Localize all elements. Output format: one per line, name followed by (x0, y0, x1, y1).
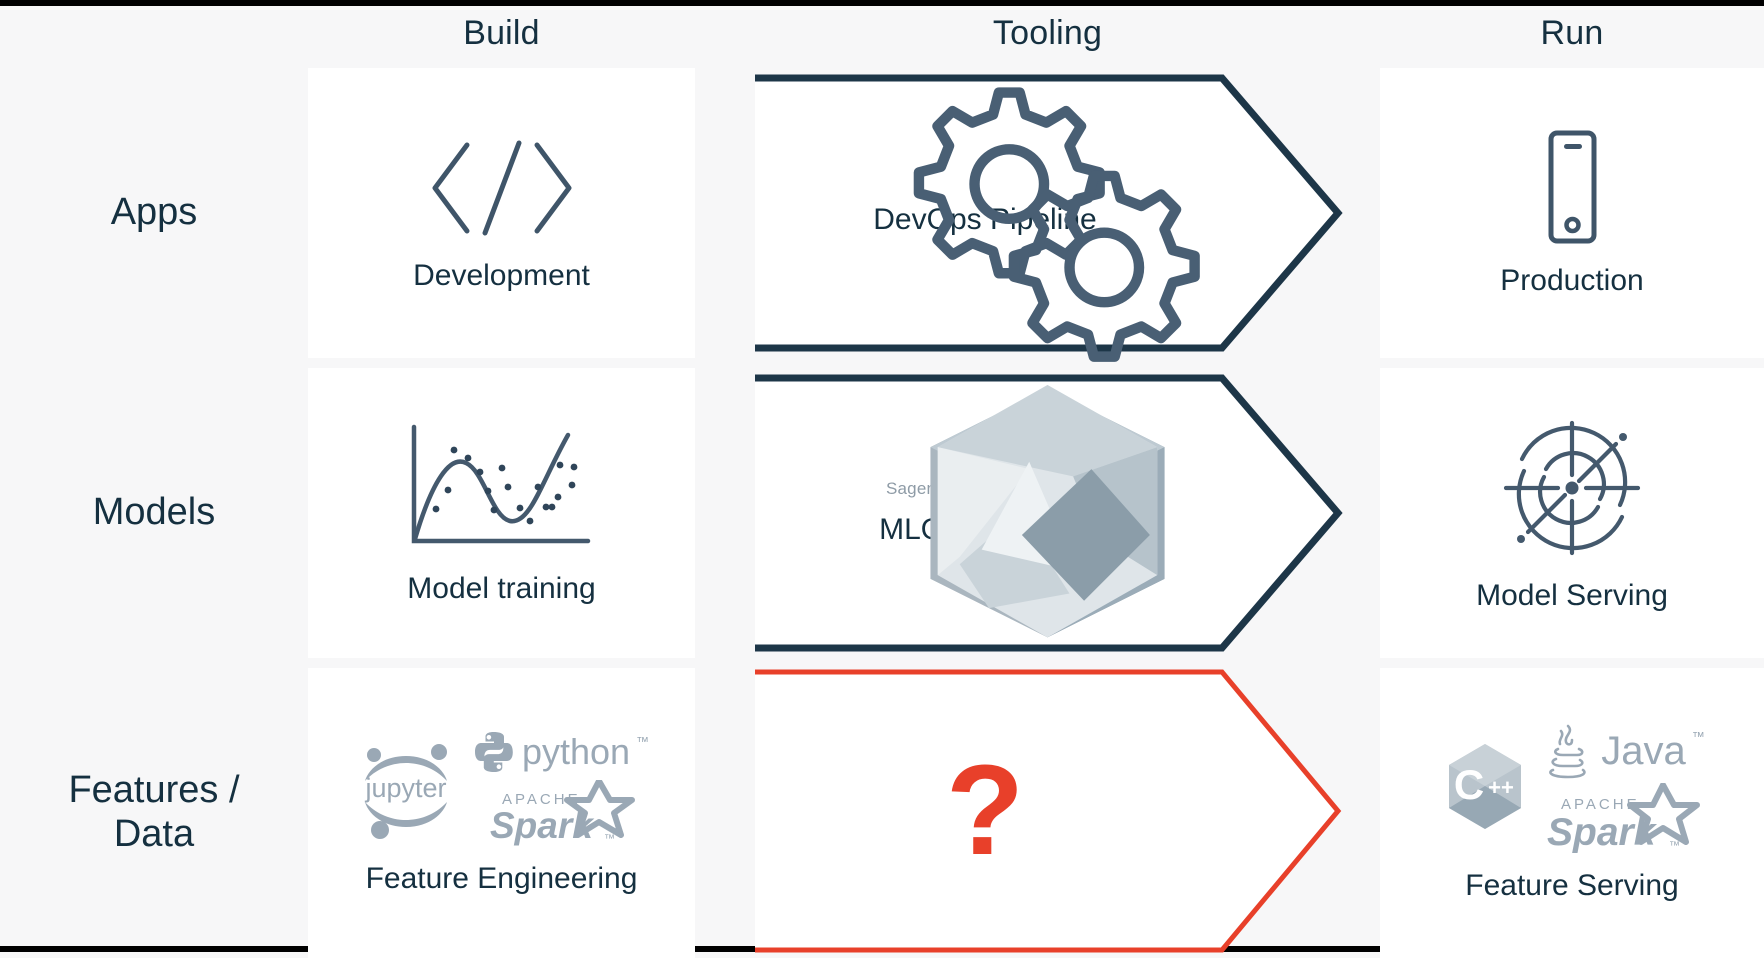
spark-wordmark: Spark (490, 805, 595, 846)
cpp-letter: C (1454, 761, 1484, 808)
kubeflow-logo: Kubeflow (1009, 479, 1084, 499)
smartphone-icon (1532, 128, 1612, 248)
jupyter-wordmark: jupyter (364, 773, 446, 803)
python-icon (472, 730, 516, 774)
cell-model-training[interactable]: Model training (308, 368, 695, 658)
row-label-features-data: Features / Data (0, 668, 308, 958)
cpp-plus-signs: ++ (1488, 775, 1514, 800)
cell-feature-serving[interactable]: C ++ Java ™ (1380, 668, 1764, 958)
scatter-plot-icon (402, 421, 602, 556)
column-header-run: Run (1380, 8, 1764, 58)
spark-icon: APACHE Spark ™ (486, 780, 636, 846)
cpp-java-spark-logos: C ++ Java ™ (1439, 723, 1705, 853)
row-label-apps: Apps (0, 68, 308, 358)
cell-caption: Production (1500, 264, 1643, 298)
cell-mlops-pipeline[interactable]: Sagemaker Kubeflow (755, 374, 1340, 652)
kubeflow-icon (755, 374, 1340, 652)
cell-caption: Feature Engineering (366, 862, 638, 896)
cell-caption: Model Serving (1476, 579, 1668, 613)
cell-caption: Development (413, 259, 590, 293)
python-wordmark: python (522, 731, 630, 773)
jupyter-python-spark-logos: jupyter python ™ APACHE (354, 730, 649, 846)
cell-caption: Model training (407, 572, 595, 606)
java-icon (1541, 723, 1595, 779)
spark-trademark: ™ (1669, 840, 1680, 852)
column-header-build: Build (308, 8, 695, 58)
row-label-models: Models (0, 368, 308, 658)
cpp-icon: C ++ (1439, 738, 1531, 838)
jupyter-icon: jupyter (354, 734, 458, 842)
spark-icon: APACHE Spark ™ (1543, 783, 1703, 853)
python-logo: python ™ (472, 730, 649, 774)
code-brackets-icon (427, 133, 577, 243)
cell-devops-pipeline[interactable]: DevOps Pipeline (755, 74, 1340, 352)
cell-caption: Feature Serving (1465, 869, 1678, 903)
cell-development[interactable]: Development (308, 68, 695, 358)
java-logo: Java ™ (1541, 723, 1705, 779)
question-mark-icon: ? (946, 761, 1024, 861)
spark-logo: APACHE Spark ™ (486, 780, 636, 846)
spark-wordmark: Spark (1547, 811, 1658, 853)
java-wordmark: Java (1601, 729, 1686, 774)
cell-model-serving[interactable]: Model Serving (1380, 368, 1764, 658)
column-header-tooling: Tooling (755, 8, 1340, 58)
diagram-canvas: Build Tooling Run Apps Models Features /… (0, 6, 1764, 946)
python-trademark: ™ (636, 734, 649, 749)
spark-trademark: ™ (604, 833, 615, 845)
java-trademark: ™ (1692, 729, 1705, 744)
cell-feature-gap[interactable]: ? (755, 668, 1340, 954)
mlops-tool-logos: Sagemaker Kubeflow (886, 479, 1084, 499)
cell-feature-engineering[interactable]: jupyter python ™ APACHE (308, 668, 695, 958)
cell-production[interactable]: Production (1380, 68, 1764, 358)
crosshair-target-icon (1492, 413, 1652, 563)
